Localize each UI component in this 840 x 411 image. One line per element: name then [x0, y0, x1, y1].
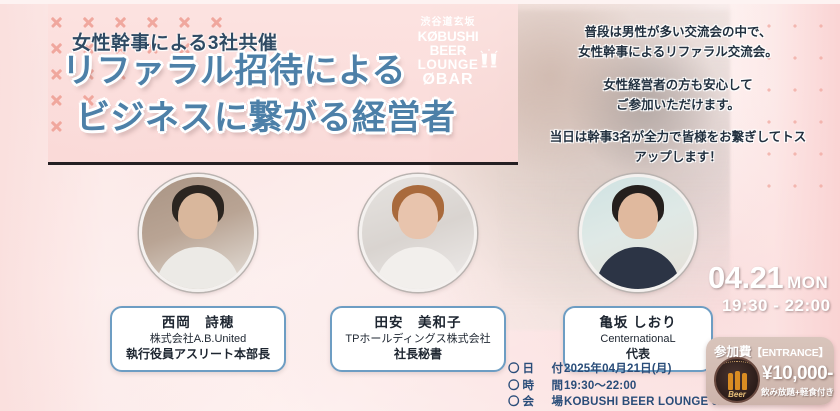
profile-card: 田安 美和子 TPホールディングス株式会社 社長秘書: [323, 174, 513, 372]
info-value: 19:30〜22:00: [564, 378, 637, 395]
top-edge-strip: [0, 0, 840, 4]
avatar-face: [398, 193, 438, 239]
profile-namebox: 田安 美和子 TPホールディングス株式会社 社長秘書: [330, 306, 506, 372]
info-value: 2025年04月21日(月): [564, 361, 672, 378]
profile-org: CenternationaL: [569, 332, 707, 347]
bottle-icon: [735, 371, 740, 390]
event-flyer: 女性幹事による3社共催 リファラル招待による ビジネスに繋がる経営者 渋谷道玄坂…: [0, 0, 840, 411]
avatar-body: [156, 247, 240, 292]
copy-paragraph-3: 当日は幹事3名が全力で皆様をお繋ぎしてトス アップします！: [528, 127, 828, 168]
profile-org: 株式会社A.B.United: [116, 332, 280, 347]
title-line-2: ビジネスに繋がる経営者: [62, 95, 512, 142]
avatar: [139, 174, 257, 292]
info-label: 〇日 付: [508, 361, 564, 378]
avatar-face: [178, 193, 218, 239]
price-label-en: 【ENTRANCE】: [752, 347, 829, 359]
copy-p2-line2: ご参加いただけます。: [616, 98, 740, 112]
beer-bottles-badge-icon: Beer: [714, 357, 760, 403]
copy-paragraph-2: 女性経営者の方も安心して ご参加いただけます。: [528, 75, 828, 116]
bottle-icon: [742, 373, 747, 390]
avatar-face: [618, 193, 658, 239]
event-day-of-week: MON: [787, 273, 828, 292]
title-line-1: リファラル招待による: [62, 52, 406, 90]
copy-paragraph-1: 普段は男性が多い交流会の中で、 女性幹事によるリファラル交流会。: [528, 22, 828, 63]
description-copy: 普段は男性が多い交流会の中で、 女性幹事によるリファラル交流会。 女性経営者の方…: [528, 22, 828, 168]
bottle-icon: [728, 373, 733, 390]
logo-japanese-text: 渋谷道玄坂: [398, 18, 498, 29]
profile-card: 西岡 詩穂 株式会社A.B.United 執行役員アスリート本部長: [103, 174, 293, 372]
profile-card: 亀坂 しおり CenternationaL 代表: [543, 174, 733, 372]
price-badge: 参加費【ENTRANCE】 Beer ¥10,000- 飲み放題+軽食付き: [706, 337, 834, 405]
beer-glasses-cheers-icon: [478, 48, 500, 74]
copy-p3-line2: アップします！: [634, 150, 722, 164]
copy-p1-line1: 普段は男性が多い交流会の中で、: [584, 25, 771, 39]
copy-p2-line1: 女性経営者の方も安心して: [603, 78, 753, 92]
avatar: [579, 174, 697, 292]
profile-name: 亀坂 しおり: [569, 314, 707, 332]
medallion-text: Beer: [716, 390, 758, 399]
profile-name: 西岡 詩穂: [116, 314, 280, 332]
profile-role: 社長秘書: [336, 346, 500, 362]
copy-p1-line2: 女性幹事によるリファラル交流会。: [578, 45, 778, 59]
event-time-range: 19:30 - 22:00: [708, 296, 838, 316]
info-label: 〇時 間: [508, 378, 564, 395]
event-date-number: 04.21: [708, 260, 783, 295]
logo-line-3: ØBAR: [398, 72, 498, 89]
price-note: 飲み放題+軽食付き: [761, 386, 834, 398]
event-date: 04.21MON: [708, 262, 838, 293]
event-date-block: 04.21MON 19:30 - 22:00: [708, 262, 838, 316]
avatar-body: [596, 247, 680, 292]
copy-p3-line1: 当日は幹事3名が全力で皆様をお繋ぎしてトス: [550, 130, 807, 144]
profile-name: 田安 美和子: [336, 314, 500, 332]
profile-org: TPホールディングス株式会社: [336, 332, 500, 347]
price-amount: ¥10,000-: [762, 363, 833, 385]
profile-namebox: 西岡 詩穂 株式会社A.B.United 執行役員アスリート本部長: [110, 306, 286, 372]
avatar-body: [376, 247, 460, 292]
venue-logo: 渋谷道玄坂 KØBUSHI BEER LOUNGE ØBAR: [398, 18, 498, 89]
profile-role: 執行役員アスリート本部長: [116, 346, 280, 362]
info-label: 〇会 場: [508, 394, 564, 411]
avatar: [359, 174, 477, 292]
